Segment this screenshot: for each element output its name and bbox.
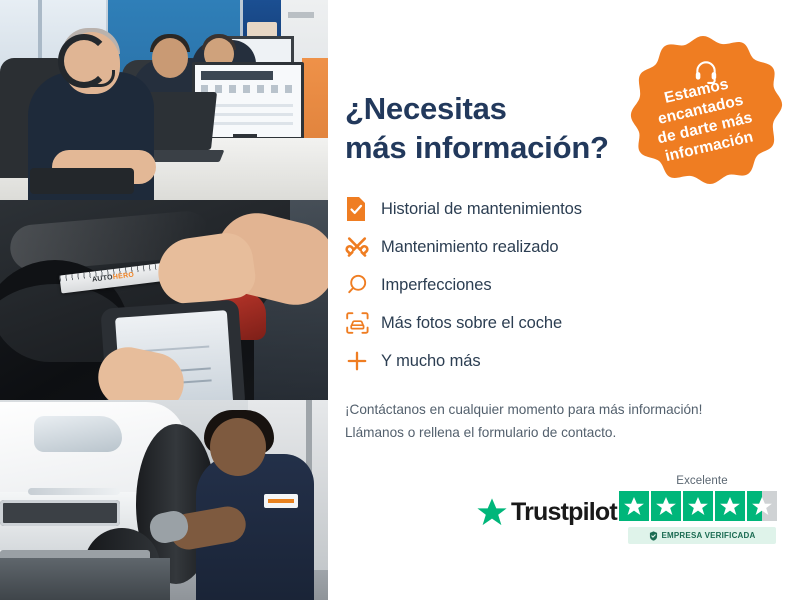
feature-item-mucho-mas: Y mucho más — [345, 342, 685, 380]
feature-label: Más fotos sobre el coche — [381, 314, 562, 333]
headline-line-2: más información? — [345, 130, 609, 165]
trustpilot-rating: Excelente — [619, 475, 785, 544]
feature-label: Y mucho más — [381, 352, 480, 371]
document-check-icon — [345, 194, 381, 224]
magnifier-icon — [345, 270, 381, 300]
plus-icon — [345, 346, 381, 376]
feature-item-mantenimiento: Mantenimiento realizado — [345, 228, 685, 266]
trustpilot-logo[interactable]: Trustpilot — [476, 497, 617, 528]
promo-banner: AUTOHERO ¿Necesitas más infor — [0, 0, 799, 600]
rating-label: Excelente — [619, 475, 785, 487]
trustpilot-wordmark: Trustpilot — [511, 498, 617, 527]
call-center-agents-photo — [0, 0, 328, 200]
tools-wrench-screwdriver-icon — [345, 232, 381, 262]
trustpilot-star-icon — [476, 497, 508, 528]
feature-label: Imperfecciones — [381, 276, 491, 295]
contact-line-1: ¡Contáctanos en cualquier momento para m… — [345, 398, 765, 421]
trustpilot-block: Trustpilot Excelente — [476, 475, 786, 557]
car-inspection-tablet-photo: AUTOHERO — [0, 200, 328, 400]
feature-label: Historial de mantenimientos — [381, 200, 582, 219]
feature-item-fotos: Más fotos sobre el coche — [345, 304, 685, 342]
verified-shield-icon — [649, 531, 658, 541]
headline-line-1: ¿Necesitas — [345, 91, 507, 126]
promo-badge: Estamos encantados de darte más informac… — [623, 32, 783, 192]
feature-label: Mantenimiento realizado — [381, 238, 558, 257]
car-viewfinder-icon — [345, 308, 381, 338]
star-2 — [651, 491, 681, 521]
star-rating — [619, 491, 785, 521]
verified-label: EMPRESA VERIFICADA — [662, 531, 756, 540]
contact-line-2: Llámanos o rellena el formulario de cont… — [345, 421, 765, 444]
content-panel: ¿Necesitas más información? Estamos enca… — [328, 0, 799, 600]
feature-item-imperfecciones: Imperfecciones — [345, 266, 685, 304]
photo-column: AUTOHERO — [0, 0, 328, 600]
mechanic-wheel-inspection-photo — [0, 400, 328, 600]
page-title: ¿Necesitas más información? — [345, 89, 645, 168]
star-3 — [683, 491, 713, 521]
feature-list: Historial de mantenimientos Mantenimient… — [345, 190, 685, 380]
verified-badge: EMPRESA VERIFICADA — [628, 527, 776, 544]
star-5-half — [747, 491, 777, 521]
feature-item-historial: Historial de mantenimientos — [345, 190, 685, 228]
star-4 — [715, 491, 745, 521]
contact-text: ¡Contáctanos en cualquier momento para m… — [345, 398, 765, 445]
star-1 — [619, 491, 649, 521]
